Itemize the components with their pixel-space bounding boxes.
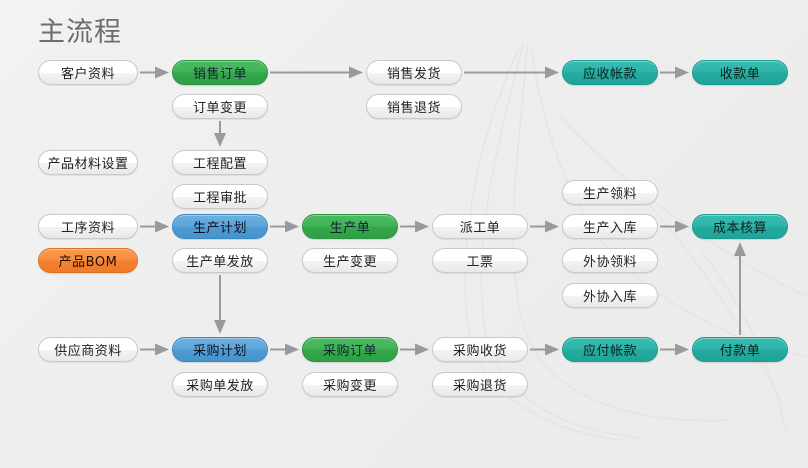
node-product-bom[interactable]: 产品BOM: [38, 248, 138, 273]
node-label: 外协领料: [583, 251, 637, 270]
node-process-data[interactable]: 工序资料: [38, 214, 138, 239]
node-label: 生产领料: [583, 183, 637, 202]
node-work-dispatch[interactable]: 派工单: [432, 214, 528, 239]
node-production-change[interactable]: 生产变更: [302, 248, 398, 273]
node-label: 采购订单: [323, 340, 377, 359]
node-label: 产品BOM: [59, 251, 118, 270]
node-label: 工序资料: [61, 217, 115, 236]
node-label: 采购退货: [453, 375, 507, 394]
node-label: 应收帐款: [583, 63, 637, 82]
node-work-ticket[interactable]: 工票: [432, 248, 528, 273]
node-label: 付款单: [720, 340, 761, 359]
node-accounts-receivable[interactable]: 应收帐款: [562, 60, 658, 85]
node-label: 销售订单: [193, 63, 247, 82]
node-label: 销售退货: [387, 97, 441, 116]
node-label: 外协入库: [583, 286, 637, 305]
node-purchase-order-release[interactable]: 采购单发放: [172, 372, 268, 397]
node-label: 生产变更: [323, 251, 377, 270]
node-label: 派工单: [460, 217, 501, 236]
node-purchase-plan[interactable]: 采购计划: [172, 337, 268, 362]
node-customer-data[interactable]: 客户资料: [38, 60, 138, 85]
node-production-order[interactable]: 生产单: [302, 214, 398, 239]
node-label: 工程配置: [193, 153, 247, 172]
node-supplier-data[interactable]: 供应商资料: [38, 337, 138, 362]
node-receipt-voucher[interactable]: 收款单: [692, 60, 788, 85]
node-label: 产品材料设置: [47, 153, 128, 172]
node-outsource-inbound[interactable]: 外协入库: [562, 283, 658, 308]
node-production-inbound[interactable]: 生产入库: [562, 214, 658, 239]
node-engineering-approval[interactable]: 工程审批: [172, 184, 268, 209]
flowchart-canvas: 主流程 客户资料销售订单订单变更销售发货销售退货应收帐款收款单产品材料设置工程配…: [0, 0, 808, 468]
node-label: 工票: [466, 251, 493, 270]
node-payment-voucher[interactable]: 付款单: [692, 337, 788, 362]
node-production-picking[interactable]: 生产领料: [562, 180, 658, 205]
node-purchase-change[interactable]: 采购变更: [302, 372, 398, 397]
node-label: 销售发货: [387, 63, 441, 82]
node-label: 供应商资料: [54, 340, 122, 359]
node-label: 生产单发放: [186, 251, 254, 270]
node-purchase-order[interactable]: 采购订单: [302, 337, 398, 362]
node-cost-accounting[interactable]: 成本核算: [692, 214, 788, 239]
node-sales-delivery[interactable]: 销售发货: [366, 60, 462, 85]
node-purchase-return[interactable]: 采购退货: [432, 372, 528, 397]
node-engineering-config[interactable]: 工程配置: [172, 150, 268, 175]
node-production-plan[interactable]: 生产计划: [172, 214, 268, 239]
page-title: 主流程: [38, 10, 122, 49]
node-label: 采购收货: [453, 340, 507, 359]
node-label: 收款单: [720, 63, 761, 82]
node-label: 生产单: [330, 217, 371, 236]
node-label: 订单变更: [193, 97, 247, 116]
node-purchase-receipt[interactable]: 采购收货: [432, 337, 528, 362]
node-accounts-payable[interactable]: 应付帐款: [562, 337, 658, 362]
node-sales-return[interactable]: 销售退货: [366, 94, 462, 119]
node-order-change[interactable]: 订单变更: [172, 94, 268, 119]
node-label: 生产计划: [193, 217, 247, 236]
node-outsource-picking[interactable]: 外协领料: [562, 248, 658, 273]
node-label: 工程审批: [193, 187, 247, 206]
node-label: 生产入库: [583, 217, 637, 236]
node-label: 应付帐款: [583, 340, 637, 359]
node-product-material-setting[interactable]: 产品材料设置: [38, 150, 138, 175]
node-sales-order[interactable]: 销售订单: [172, 60, 268, 85]
node-label: 采购变更: [323, 375, 377, 394]
node-label: 采购单发放: [186, 375, 254, 394]
node-label: 成本核算: [713, 217, 767, 236]
node-label: 采购计划: [193, 340, 247, 359]
node-production-order-release[interactable]: 生产单发放: [172, 248, 268, 273]
node-label: 客户资料: [61, 63, 115, 82]
